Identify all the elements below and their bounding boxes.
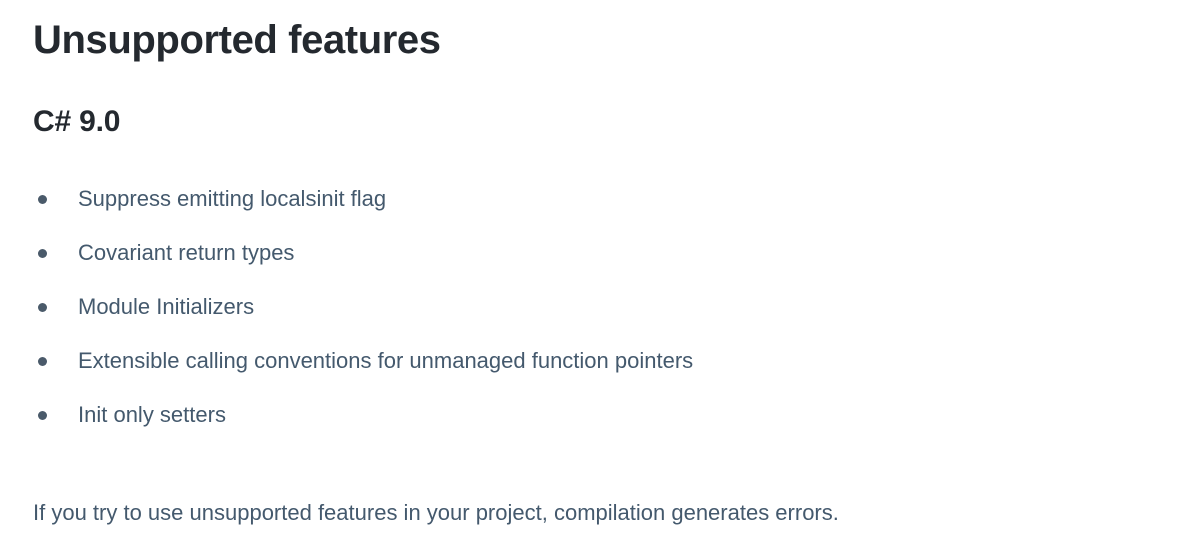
bullet-point-icon [38, 249, 47, 258]
compilation-note-paragraph: If you try to use unsupported features i… [33, 496, 839, 530]
list-item-label: Module Initializers [78, 294, 254, 319]
bullet-point-icon [38, 411, 47, 420]
bullet-point-icon [38, 357, 47, 366]
section-heading-csharp-version: C# 9.0 [33, 101, 120, 143]
list-item-label: Init only setters [78, 402, 226, 427]
page-title: Unsupported features [33, 14, 441, 66]
unsupported-features-list: Suppress emitting localsinit flag Covari… [0, 180, 693, 450]
bullet-point-icon [38, 195, 47, 204]
bullet-point-icon [38, 303, 47, 312]
document-page: Unsupported features C# 9.0 Suppress emi… [0, 0, 1200, 558]
list-item-label: Covariant return types [78, 240, 294, 265]
list-item: Init only setters [0, 396, 693, 450]
list-item: Covariant return types [0, 234, 693, 288]
list-item: Suppress emitting localsinit flag [0, 180, 693, 234]
list-item-label: Suppress emitting localsinit flag [78, 186, 386, 211]
list-item: Extensible calling conventions for unman… [0, 342, 693, 396]
list-item: Module Initializers [0, 288, 693, 342]
list-item-label: Extensible calling conventions for unman… [78, 348, 693, 373]
